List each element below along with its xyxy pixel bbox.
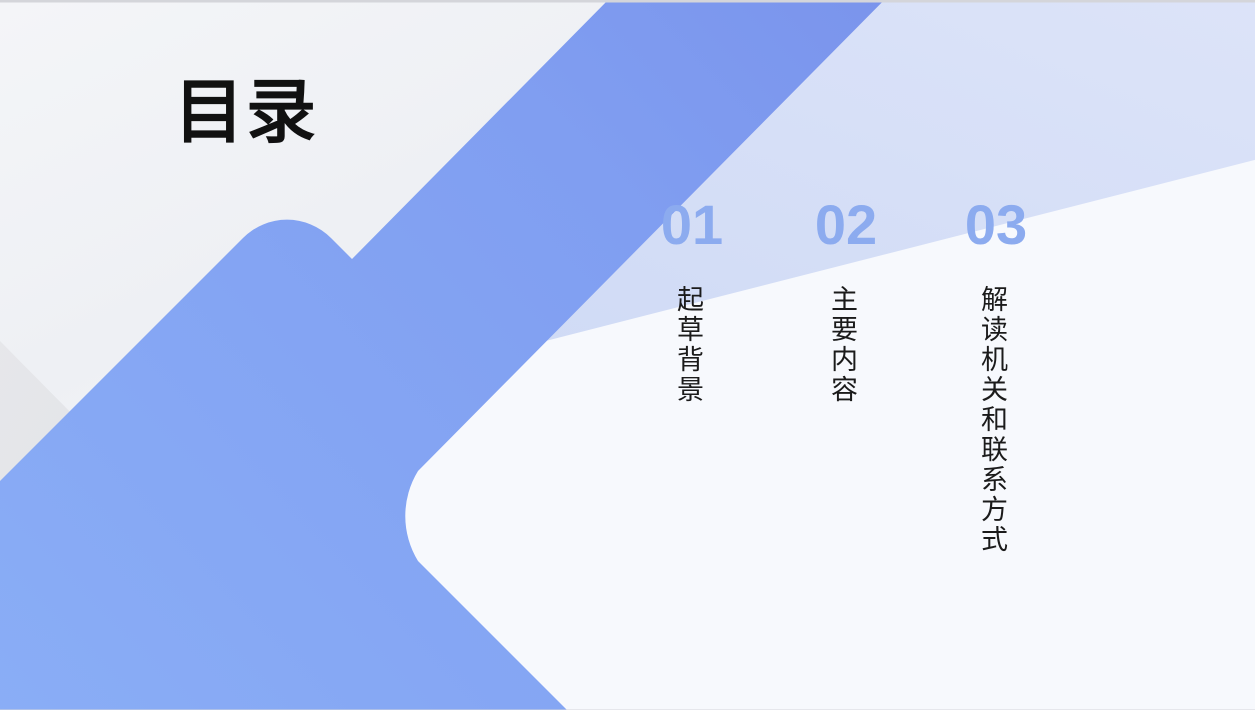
- lavender-band-cap: [128, 135, 470, 430]
- table-of-contents: 01 起草背景 02 主要内容 03 解读机关和联系方式: [620, 197, 1060, 687]
- white-panel-overlay: [0, 1, 676, 511]
- toc-item-03[interactable]: 03 解读机关和联系方式: [936, 197, 1056, 555]
- toc-label-02: 主要内容: [831, 285, 861, 405]
- page-title: 目录: [174, 77, 318, 147]
- presentation-slide: 目录 01 起草背景 02 主要内容 03 解读机关和联系方式: [0, 0, 1255, 710]
- toc-number-01: 01: [632, 197, 752, 253]
- toc-label-03: 解读机关和联系方式: [981, 285, 1011, 555]
- toc-label-01: 起草背景: [677, 285, 707, 405]
- top-border-line: [0, 1, 1255, 3]
- gray-wedge-top: [0, 173, 172, 517]
- gray-wedge-shape: [0, 173, 172, 710]
- toc-item-02[interactable]: 02 主要内容: [786, 197, 906, 405]
- toc-number-03: 03: [936, 197, 1056, 253]
- toc-item-01[interactable]: 01 起草背景: [632, 197, 752, 405]
- white-diagonal-panel: [0, 1, 692, 521]
- toc-number-02: 02: [786, 197, 906, 253]
